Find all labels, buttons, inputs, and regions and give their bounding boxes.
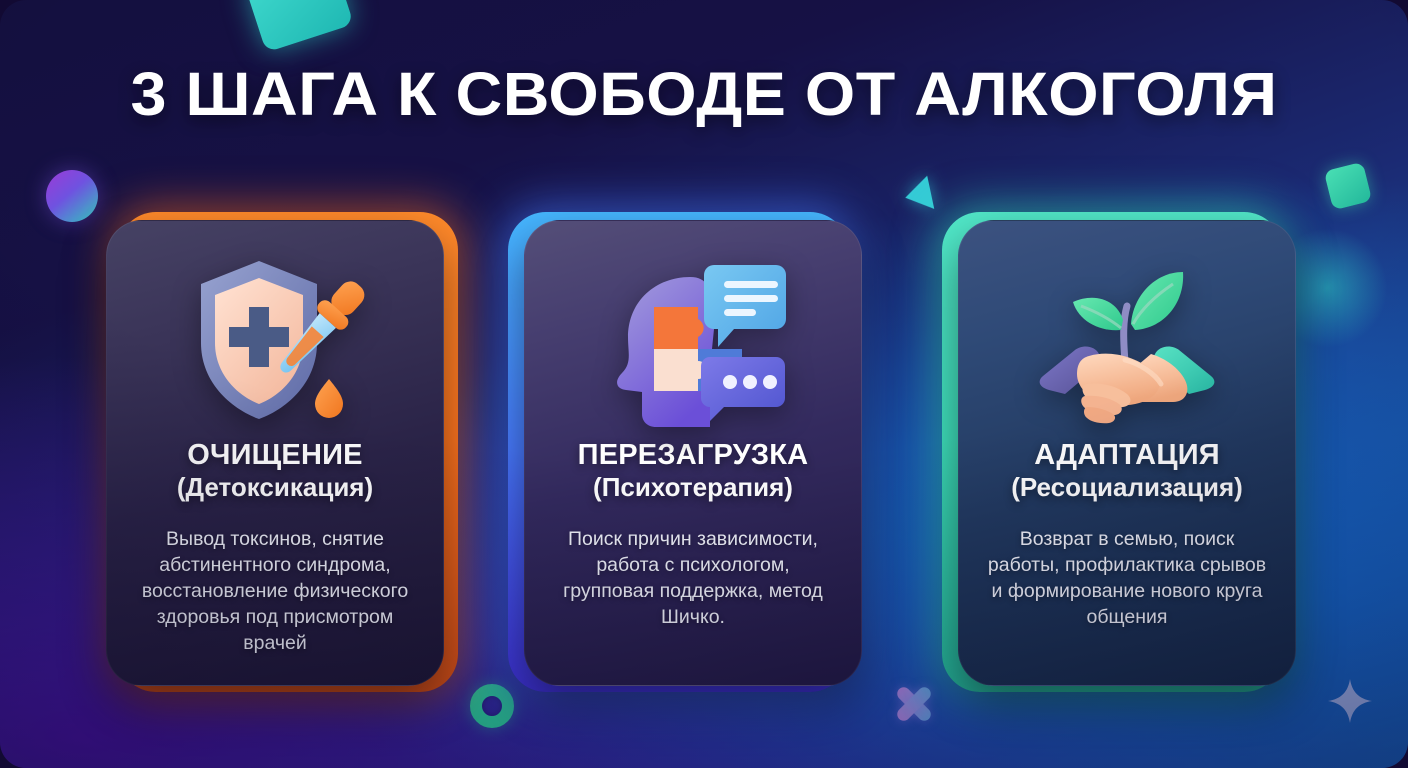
card-body-3: АДАПТАЦИЯ (Ресоциализация) Возврат в сем… xyxy=(958,220,1296,686)
step-card-cleansing[interactable]: ОЧИЩЕНИЕ (Детоксикация) Вывод токсинов, … xyxy=(88,206,448,686)
infographic-canvas: 3 ШАГА К СВОБОДЕ ОТ АЛКОГОЛЯ xyxy=(0,0,1408,768)
page-title: 3 ШАГА К СВОБОДЕ ОТ АЛКОГОЛЯ xyxy=(0,62,1408,126)
teal-rounded-square-top-decor xyxy=(244,0,354,52)
head-puzzle-chat-icon xyxy=(541,245,845,435)
card-title-1: ОЧИЩЕНИЕ xyxy=(187,439,362,471)
card-title-3: АДАПТАЦИЯ xyxy=(1034,439,1220,471)
card-body-2: ПЕРЕЗАГРУЗКА (Психотерапия) Поиск причин… xyxy=(524,220,862,686)
card-subtitle-1: (Детоксикация) xyxy=(177,472,373,503)
card-body-1: ОЧИЩЕНИЕ (Детоксикация) Вывод токсинов, … xyxy=(106,220,444,686)
card-title-2: ПЕРЕЗАГРУЗКА xyxy=(578,439,809,471)
handshake-sprout-icon xyxy=(975,245,1279,435)
step-card-adaptation[interactable]: АДАПТАЦИЯ (Ресоциализация) Возврат в сем… xyxy=(958,206,1318,686)
card-subtitle-3: (Ресоциализация) xyxy=(1011,472,1243,503)
step-card-reboot[interactable]: ПЕРЕЗАГРУЗКА (Психотерапия) Поиск причин… xyxy=(524,206,884,686)
card-body-text-1: Вывод токсинов, снятие абстинентного син… xyxy=(123,526,427,657)
steps-row: ОЧИЩЕНИЕ (Детоксикация) Вывод токсинов, … xyxy=(0,200,1408,700)
card-subtitle-2: (Психотерапия) xyxy=(593,472,793,503)
card-body-text-2: Поиск причин зависимости, работа с психо… xyxy=(541,526,845,631)
card-body-text-3: Возврат в семью, поиск работы, профилакт… xyxy=(975,526,1279,631)
shield-dropper-icon xyxy=(123,245,427,435)
